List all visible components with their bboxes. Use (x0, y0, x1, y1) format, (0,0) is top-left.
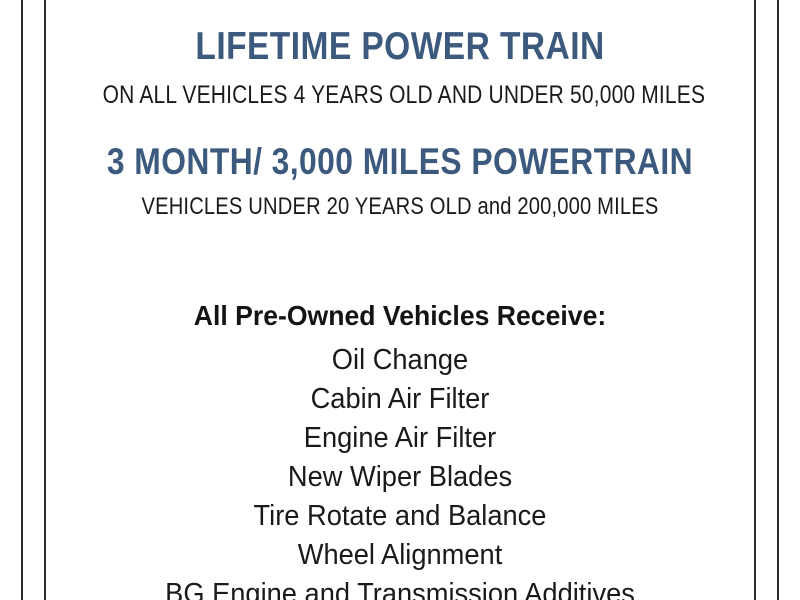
frame-rule-right-outer (777, 0, 779, 600)
service-item: Engine Air Filter (67, 419, 733, 458)
service-item: Tire Rotate and Balance (67, 497, 733, 536)
services-heading: All Pre-Owned Vehicles Receive: (64, 302, 737, 330)
service-item: Cabin Air Filter (67, 380, 733, 419)
frame-rule-left-outer (21, 0, 23, 600)
promo-title-three-month-powertrain: 3 MONTH/ 3,000 MILES POWERTRAIN (96, 143, 705, 180)
flyer-content: LIFETIME POWER TRAIN ON ALL VEHICLES 4 Y… (46, 0, 754, 600)
promo-subtitle-three-month-powertrain: VEHICLES UNDER 20 YEARS OLD and 200,000 … (103, 195, 698, 219)
service-item: New Wiper Blades (67, 458, 733, 497)
services-list: Oil ChangeCabin Air FilterEngine Air Fil… (46, 341, 754, 600)
service-item: Wheel Alignment (67, 536, 733, 575)
service-item: BG Engine and Transmission Additives (67, 575, 733, 600)
promo-subtitle-lifetime-power-train: ON ALL VEHICLES 4 YEARS OLD AND UNDER 50… (103, 83, 698, 108)
promo-title-lifetime-power-train: LIFETIME POWER TRAIN (96, 27, 705, 66)
service-item: Oil Change (67, 341, 733, 380)
frame-rule-right-inner (754, 0, 756, 600)
warranty-flyer: LIFETIME POWER TRAIN ON ALL VEHICLES 4 Y… (0, 0, 800, 600)
